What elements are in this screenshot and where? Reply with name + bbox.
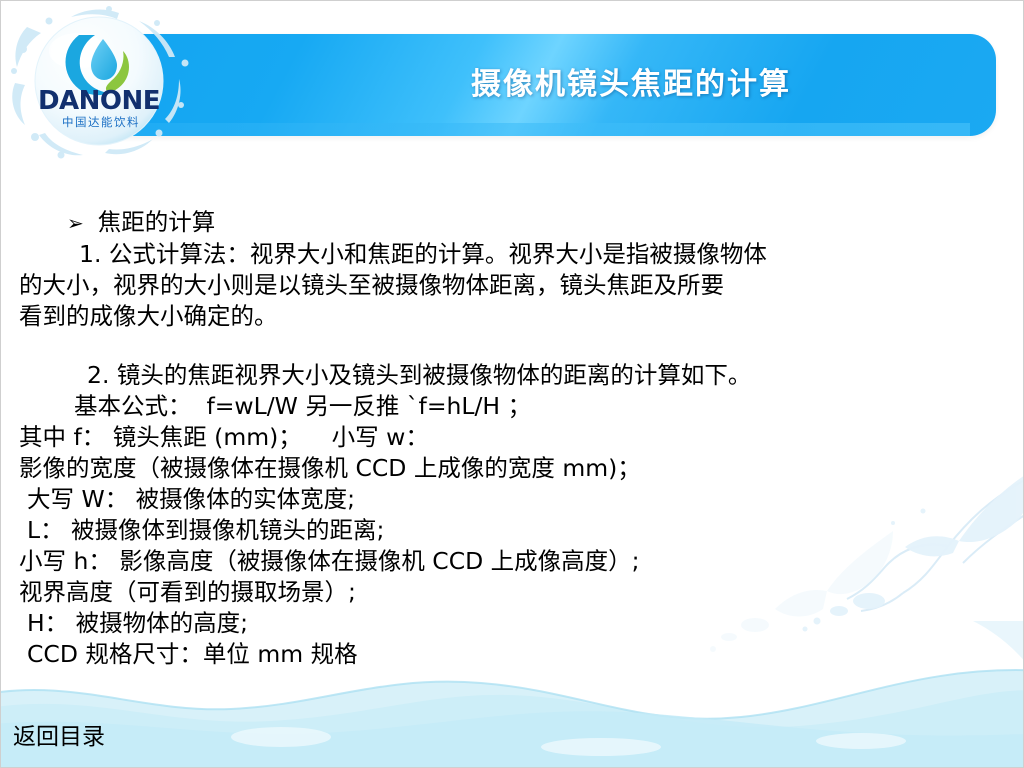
paragraph-1-line-1: 1. 公式计算法：视界大小和焦距的计算。视界大小是指被摄像物体: [1, 239, 1024, 270]
paragraph-2-line-8: 视界高度（可看到的摄取场景）;: [1, 577, 1024, 608]
paragraph-2-line-7: 小写 h： 影像高度（被摄像体在摄像机 CCD 上成像高度）;: [1, 546, 1024, 577]
paragraph-2-line-6: L： 被摄像体到摄像机镜头的距离;: [1, 515, 1024, 546]
return-to-contents-link[interactable]: 返回目录: [13, 717, 105, 751]
logo-brand-text: DANONE: [38, 86, 160, 116]
paragraph-spacer: [1, 332, 1024, 360]
paragraph-2-line-9: H： 被摄物体的高度;: [1, 608, 1024, 639]
danone-logo-icon: DANONE 中国达能饮料: [9, 5, 199, 160]
danone-logo: DANONE 中国达能饮料: [9, 5, 199, 160]
paragraph-2-line-10: CCD 规格尺寸：单位 mm 规格: [1, 639, 1024, 670]
paragraph-1-line-3: 看到的成像大小确定的。: [1, 301, 1024, 332]
paragraph-2-line-3: 其中 f： 镜头焦距 (mm)； 小写 w：: [1, 422, 1024, 453]
paragraph-2-line-2: 基本公式： f=wL/W 另一反推 `f=hL/H ；: [1, 391, 1024, 422]
paragraph-2-line-4: 影像的宽度（被摄像体在摄像机 CCD 上成像的宽度 mm)；: [1, 453, 1024, 484]
paragraph-1: 1. 公式计算法：视界大小和焦距的计算。视界大小是指被摄像物体 的大小，视界的大…: [1, 239, 1024, 332]
paragraph-2-line-1: 2. 镜头的焦距视界大小及镜头到被摄像物体的距离的计算如下。: [1, 360, 1024, 391]
arrow-bullet-icon: ➢: [67, 208, 84, 239]
slide-body: ➢ 焦距的计算 1. 公式计算法：视界大小和焦距的计算。视界大小是指被摄像物体 …: [1, 207, 1024, 670]
paragraph-2: 2. 镜头的焦距视界大小及镜头到被摄像物体的距离的计算如下。 基本公式： f=w…: [1, 360, 1024, 670]
bullet-heading-text: 焦距的计算: [98, 207, 216, 238]
bullet-heading-row: ➢ 焦距的计算: [1, 207, 1024, 239]
paragraph-2-line-5: 大写 W： 被摄像体的实体宽度;: [1, 484, 1024, 515]
paragraph-1-line-2: 的大小，视界的大小则是以镜头至被摄像物体距离，镜头焦距及所要: [1, 270, 1024, 301]
page-title: 摄像机镜头焦距的计算: [301, 59, 961, 103]
slide-canvas: 摄像机镜头焦距的计算: [0, 0, 1024, 768]
logo-subtitle-text: 中国达能饮料: [62, 115, 140, 129]
